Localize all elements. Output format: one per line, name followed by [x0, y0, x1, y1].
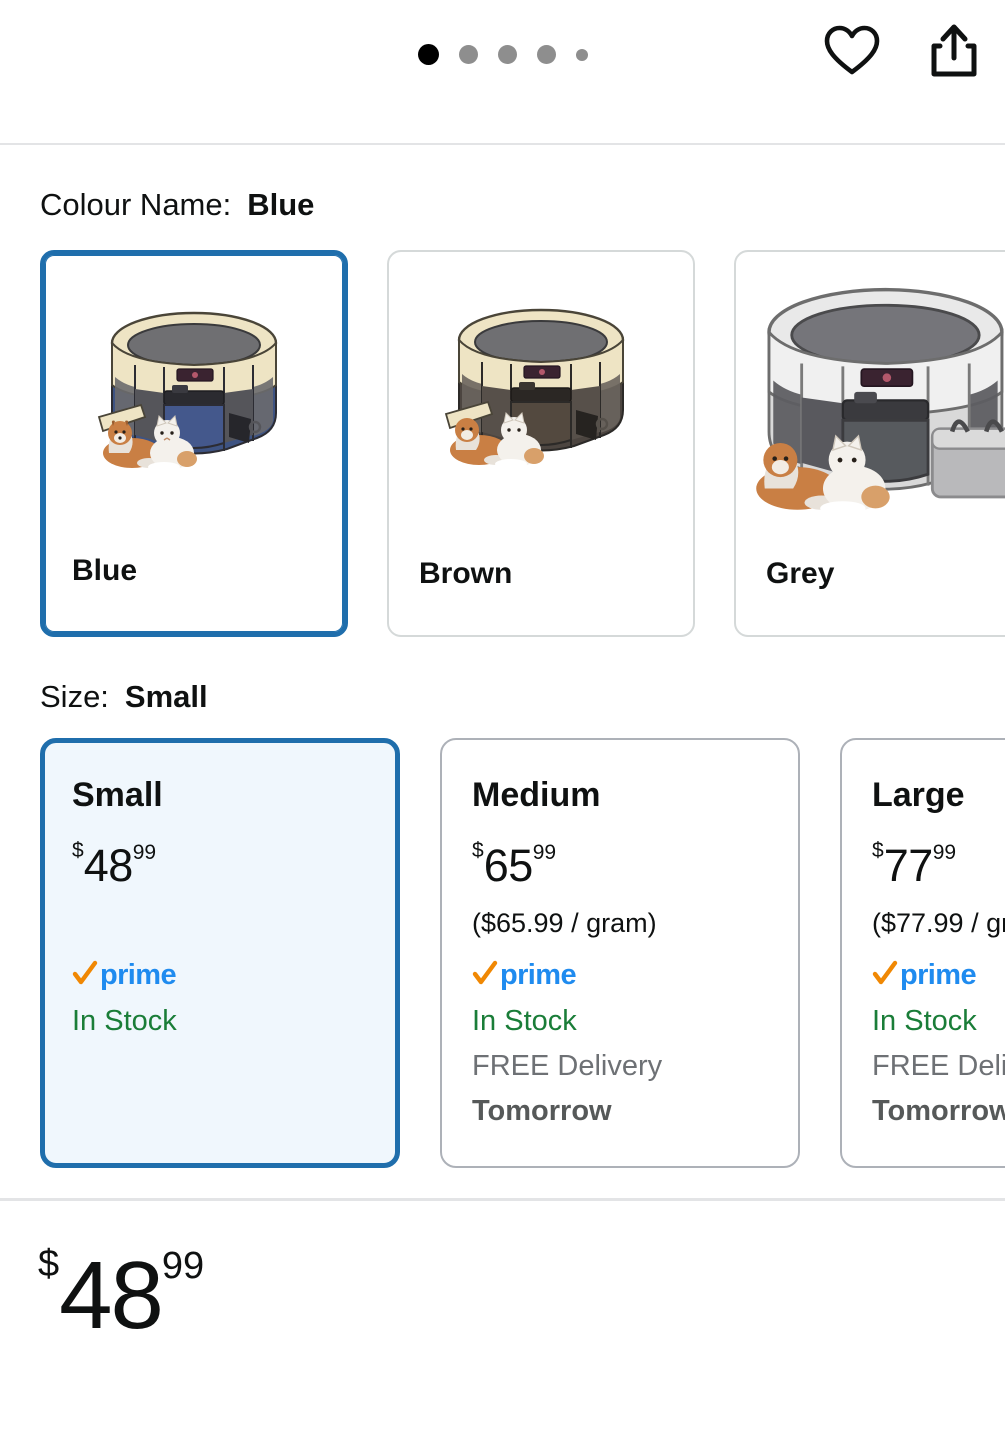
colour-selected-value: Blue: [247, 187, 314, 222]
gallery-topbar: [0, 0, 1005, 145]
gallery-dot-4[interactable]: [537, 45, 556, 64]
prime-label: prime: [500, 961, 576, 990]
colour-section: Colour Name:Blue: [0, 145, 1005, 637]
size-card-small-name: Small: [72, 778, 395, 812]
size-card-medium[interactable]: Medium $6599 ($65.99 / gram) prime In St…: [440, 738, 800, 1168]
buybox-price: $4899: [0, 1201, 1005, 1344]
colour-swatch-row: Blue: [0, 220, 1005, 637]
price-symbol: $: [472, 839, 484, 862]
colour-swatch-brown-image: [389, 258, 693, 548]
pet-playpen-brown-icon: [416, 278, 666, 528]
size-card-medium-price: $6599: [472, 840, 798, 888]
size-card-medium-delivery-date: Tomorrow: [472, 1097, 798, 1126]
size-card-large-prime-badge: prime: [872, 959, 1005, 991]
share-button[interactable]: [925, 22, 983, 80]
gallery-dot-3[interactable]: [498, 45, 517, 64]
price-symbol: $: [872, 839, 884, 862]
size-card-small-price: $4899: [72, 840, 395, 888]
size-card-small-stock: In Stock: [72, 1007, 395, 1036]
size-card-medium-prime-badge: prime: [472, 959, 798, 991]
colour-label-text: Colour Name:: [40, 187, 231, 222]
colour-swatch-grey[interactable]: Grey: [734, 250, 1005, 637]
price-whole: 48: [84, 840, 133, 891]
colour-swatch-grey-label: Grey: [766, 559, 834, 589]
price-fraction: 99: [933, 841, 956, 864]
colour-swatch-blue[interactable]: Blue: [40, 250, 348, 637]
gallery-dot-2[interactable]: [459, 45, 478, 64]
size-card-medium-stock: In Stock: [472, 1007, 798, 1036]
colour-swatch-brown-label: Brown: [419, 559, 512, 589]
size-card-medium-unit-price: ($65.99 / gram): [472, 910, 798, 937]
size-card-small[interactable]: Small $4899 prime In Stock: [40, 738, 400, 1168]
colour-swatch-blue-image: [45, 261, 343, 551]
size-card-row: Small $4899 prime In Stock Medium $6599 …: [0, 712, 1005, 1168]
gallery-dot-1[interactable]: [418, 44, 439, 65]
price-whole: 65: [484, 840, 533, 891]
buybox-price-symbol: $: [38, 1243, 59, 1285]
wishlist-button[interactable]: [823, 22, 881, 80]
buybox-price-whole: 48: [59, 1242, 162, 1349]
colour-swatch-brown[interactable]: Brown: [387, 250, 695, 637]
colour-swatch-blue-label: Blue: [72, 556, 137, 586]
price-symbol: $: [72, 839, 84, 862]
size-card-large-delivery-date: Tomorrow: [872, 1097, 1005, 1126]
size-card-medium-name: Medium: [472, 778, 798, 812]
prime-label: prime: [900, 961, 976, 990]
prime-check-icon: [472, 959, 498, 991]
size-card-small-unitprice-spacer: [72, 910, 395, 959]
size-card-medium-free-delivery: FREE Delivery: [472, 1052, 798, 1081]
price-fraction: 99: [133, 841, 156, 864]
prime-check-icon: [72, 959, 98, 991]
size-section-label: Size:Small: [0, 637, 1005, 712]
carry-bag: [932, 422, 1005, 497]
size-card-large-stock: In Stock: [872, 1007, 1005, 1036]
colour-section-label: Colour Name:Blue: [0, 145, 1005, 220]
share-icon: [928, 23, 980, 79]
pet-playpen-grey-icon: [734, 250, 1005, 599]
size-card-large-price: $7799: [872, 840, 1005, 888]
size-label-text: Size:: [40, 679, 109, 714]
prime-check-icon: [872, 959, 898, 991]
size-card-small-prime-badge: prime: [72, 959, 395, 991]
size-card-large[interactable]: Large $7799 ($77.99 / gram) prime In Sto…: [840, 738, 1005, 1168]
prime-label: prime: [100, 961, 176, 990]
size-card-large-name: Large: [872, 778, 1005, 812]
heart-icon: [824, 25, 880, 77]
size-selected-value: Small: [125, 679, 208, 714]
pet-playpen-blue-icon: [69, 281, 319, 531]
size-card-large-free-delivery: FREE Delivery: [872, 1052, 1005, 1081]
size-card-large-unit-price: ($77.99 / gram): [872, 910, 1005, 937]
topbar-actions: [823, 22, 983, 80]
size-section: Size:Small Small $4899 prime In Stock Me…: [0, 637, 1005, 1168]
buybox-price-fraction: 99: [162, 1245, 204, 1287]
gallery-dot-5[interactable]: [576, 49, 588, 61]
price-fraction: 99: [533, 841, 556, 864]
price-whole: 77: [884, 840, 933, 891]
